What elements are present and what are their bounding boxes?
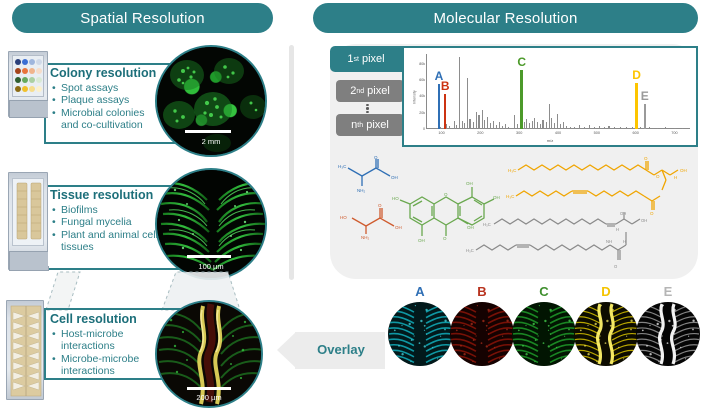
tissue-list: •Biofilms •Fungal mycelia •Plant and ani… — [50, 204, 162, 254]
svg-text:H: H — [616, 227, 619, 232]
svg-text:H: H — [674, 175, 677, 180]
svg-text:NH₂: NH₂ — [357, 188, 365, 193]
ion-disc — [388, 302, 452, 366]
colony-scalebar — [185, 130, 231, 133]
ion-disc — [512, 302, 576, 366]
svg-text:OH: OH — [620, 212, 626, 216]
svg-text:OH: OH — [493, 195, 500, 200]
ion-disc — [574, 302, 638, 366]
ion-label: D — [574, 284, 638, 299]
cell-scalebar — [187, 387, 231, 390]
svg-text:H: H — [623, 239, 626, 244]
svg-text:H₃C: H₃C — [508, 168, 517, 173]
ion-image-e: E — [636, 284, 700, 384]
x-tick: 100 — [438, 131, 444, 135]
svg-text:O: O — [614, 264, 618, 269]
svg-text:OH: OH — [680, 168, 687, 173]
svg-text:H₃C: H₃C — [506, 194, 515, 199]
cell-title: Cell resolution — [50, 312, 158, 326]
molecular-structures: H₃CO OHNH₂ HOO OHNH₂ HOO OHOH OHOHO — [336, 156, 694, 278]
cell-slide-icon — [6, 300, 44, 400]
svg-text:NH: NH — [606, 239, 612, 244]
cell-micrograph: 200 µm — [155, 300, 263, 408]
svg-text:O: O — [443, 236, 447, 241]
tissue-title: Tissue resolution — [50, 188, 162, 202]
ion-disc — [636, 302, 700, 366]
header-spatial-resolution: Spatial Resolution — [12, 3, 273, 33]
list-item: •Biofilms — [50, 204, 162, 216]
svg-text:H₃C: H₃C — [338, 164, 347, 169]
svg-text:O: O — [444, 192, 448, 197]
panel-divider — [289, 45, 294, 280]
x-tick: 300 — [516, 131, 522, 135]
x-tick: 400 — [555, 131, 561, 135]
list-item: •Host-microbe interactions — [50, 328, 158, 353]
list-item: •Fungal mycelia — [50, 216, 162, 228]
arrow-tip-icon — [277, 332, 296, 368]
y-tick: 20k — [419, 111, 425, 115]
svg-text:OH: OH — [641, 218, 647, 223]
microplate-icon — [8, 51, 48, 117]
svg-text:HO: HO — [392, 196, 399, 201]
ion-image-b: B — [450, 284, 514, 384]
list-item: •Spot assays — [50, 82, 160, 94]
overlay-label: Overlay — [299, 342, 383, 357]
y-axis-title: Intensity — [413, 90, 417, 103]
svg-text:NH₂: NH₂ — [361, 235, 369, 240]
ion-image-row: ABCDE — [388, 284, 700, 409]
y-tick: 0 — [423, 127, 425, 131]
svg-text:O: O — [378, 203, 382, 208]
colony-scale-label: 2 mm — [157, 137, 265, 146]
colony-micrograph: 2 mm — [155, 45, 267, 157]
pixel-ellipsis-icon — [366, 104, 369, 113]
x-tick: 700 — [671, 131, 677, 135]
ion-label: A — [388, 284, 452, 299]
svg-text:O: O — [374, 156, 378, 160]
x-tick: 500 — [594, 131, 600, 135]
svg-text:O: O — [656, 174, 660, 179]
molecule-diacylglycerol: H₃CH₃C OO OH OH — [506, 156, 692, 218]
svg-text:HO: HO — [340, 215, 347, 220]
x-axis-ticks: 100200300400500600700 — [426, 54, 690, 129]
header-molecular-resolution: Molecular Resolution — [313, 3, 698, 33]
molecule-ceramide: H₃CH₃C OHH OHH NHO — [466, 212, 676, 276]
cell-list: •Host-microbe interactions •Microbe-micr… — [50, 328, 158, 378]
tissue-micrograph: 100 µm — [155, 168, 267, 280]
tissue-scalebar — [187, 255, 231, 258]
y-tick: 40k — [419, 94, 425, 98]
list-item: •Microbe-microbe interactions — [50, 353, 158, 378]
x-tick: 600 — [632, 131, 638, 135]
ion-image-d: D — [574, 284, 638, 384]
ion-disc — [450, 302, 514, 366]
svg-text:H₃C: H₃C — [466, 248, 474, 253]
mass-spectrum-plot: ABCDE 020k40k60k80k 10020030040050060070… — [426, 54, 690, 129]
cell-scale-label: 200 µm — [157, 393, 261, 402]
x-tick: 200 — [477, 131, 483, 135]
ion-image-a: A — [388, 284, 452, 384]
svg-text:OH: OH — [466, 181, 473, 186]
pixel-button-second[interactable]: 2nd pixel — [336, 80, 404, 102]
svg-text:O: O — [644, 156, 648, 161]
colony-list: •Spot assays •Plaque assays •Microbial c… — [50, 82, 160, 132]
svg-text:OH: OH — [418, 238, 425, 243]
ion-label: E — [636, 284, 700, 299]
ion-label: C — [512, 284, 576, 299]
y-tick: 60k — [419, 78, 425, 82]
svg-text:H₃C: H₃C — [483, 222, 491, 227]
y-tick: 80k — [419, 62, 425, 66]
list-item: •Plaque assays — [50, 94, 160, 106]
list-item: •Microbial colonies and co-cultivation — [50, 107, 160, 132]
tissue-slide-icon — [8, 172, 48, 270]
overlay-arrow: Overlay — [277, 332, 385, 369]
x-axis-title: m/z — [547, 138, 553, 143]
mass-spectrum-card: ABCDE 020k40k60k80k 10020030040050060070… — [402, 46, 698, 147]
ion-label: B — [450, 284, 514, 299]
pixel-button-nth[interactable]: nth pixel — [336, 114, 404, 136]
pixel-button-first[interactable]: 1st pixel — [330, 46, 402, 72]
ion-image-c: C — [512, 284, 576, 384]
colony-title: Colony resolution — [50, 66, 160, 80]
list-item: •Plant and animal cell tissues — [50, 229, 162, 254]
